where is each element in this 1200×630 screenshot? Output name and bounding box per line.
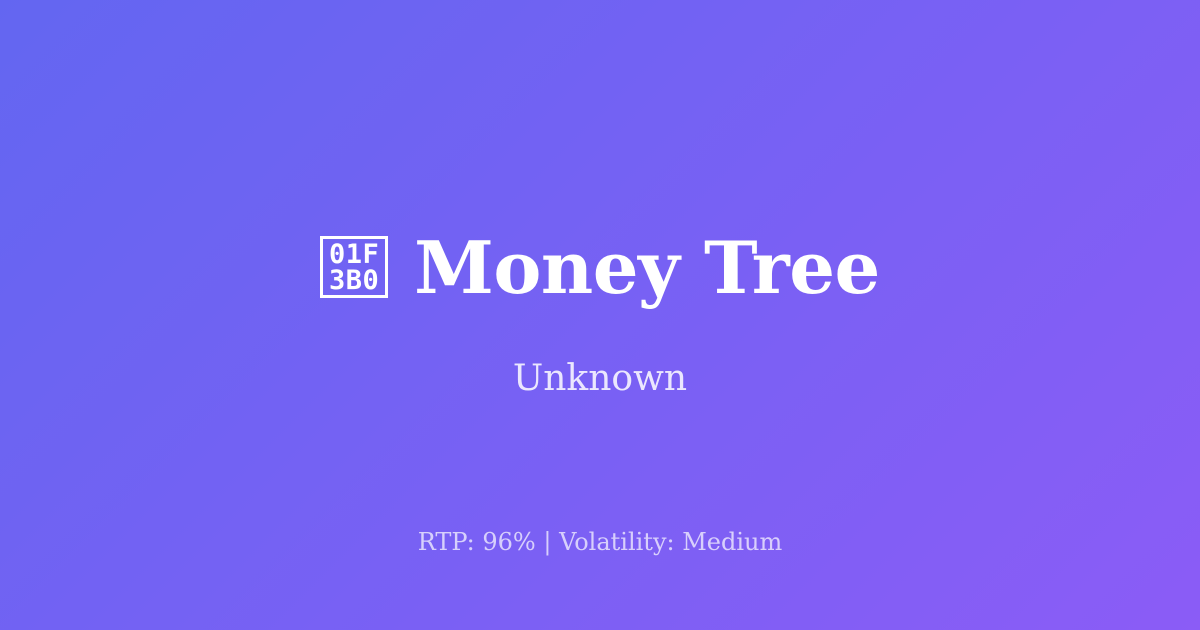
slot-machine-icon: 01F 3B0 — [320, 236, 388, 298]
slot-machine-icon-codepoint-lower: 3B0 — [329, 268, 379, 294]
game-stats-line: RTP: 96% | Volatility: Medium — [0, 527, 1200, 557]
page-title: 01F 3B0 Money Tree — [320, 230, 880, 306]
game-provider: Unknown — [513, 357, 687, 400]
game-title: Money Tree — [414, 230, 880, 306]
